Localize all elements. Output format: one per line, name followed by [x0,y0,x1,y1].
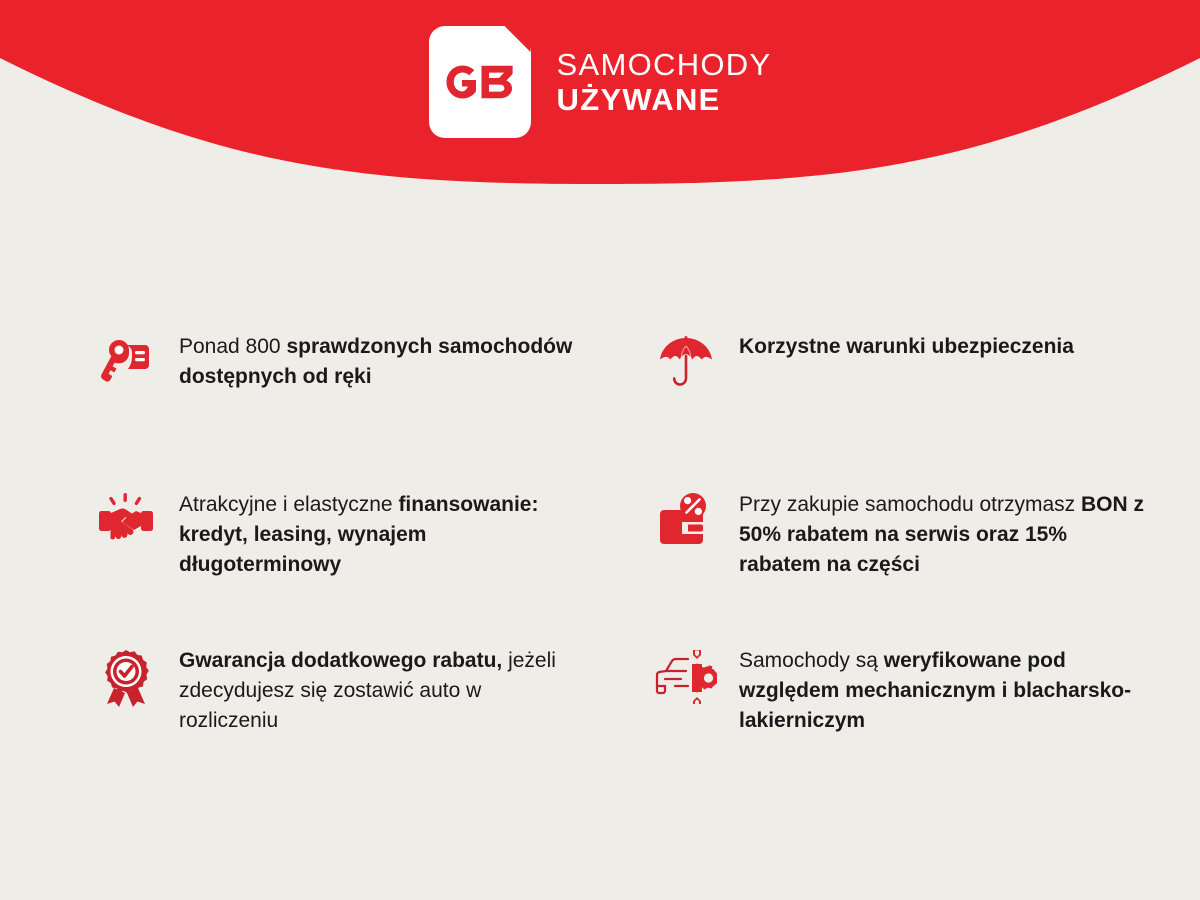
brand-line-uzywane: UŻYWANE [557,84,772,116]
car-key-icon [95,330,157,400]
feature-text: Samochody są weryfikowane pod względem m… [739,644,1149,735]
feature-segment-bold: Gwarancja dodatkowego rabatu, [179,649,508,672]
handshake-icon [95,488,157,558]
feature-item-service-voucher: Przy zakupie samochodu otrzymasz BON z 5… [655,488,1200,588]
award-badge-icon [95,644,157,714]
brand-lockup: SAMOCHODY UŻYWANE [0,26,1200,138]
features-column-left: Ponad 800 sprawdzonych samochodów dostęp… [95,330,655,744]
feature-item-cars-available: Ponad 800 sprawdzonych samochodów dostęp… [95,330,655,430]
logo-corner-notch [505,26,531,52]
brand-line-samochody: SAMOCHODY [557,49,772,81]
features-column-right: Korzystne warunki ubezpieczenia [655,330,1200,744]
feature-item-insurance: Korzystne warunki ubezpieczenia [655,330,1200,430]
feature-segment-bold: Korzystne warunki ubezpieczenia [739,335,1074,358]
feature-text: Przy zakupie samochodu otrzymasz BON z 5… [739,488,1149,579]
car-service-icon [655,644,717,714]
feature-item-financing: Atrakcyjne i elastyczne finansowanie: kr… [95,488,655,588]
feature-text: Atrakcyjne i elastyczne finansowanie: kr… [179,488,579,579]
gb-logo-icon [445,65,515,99]
features-grid: Ponad 800 sprawdzonych samochodów dostęp… [0,330,1200,744]
feature-text: Korzystne warunki ubezpieczenia [739,330,1074,362]
umbrella-icon [655,330,717,400]
feature-item-vehicle-inspection: Samochody są weryfikowane pod względem m… [655,644,1200,744]
feature-segment-regular: Przy zakupie samochodu otrzymasz [739,493,1081,516]
header-banner: SAMOCHODY UŻYWANE [0,0,1200,200]
feature-segment-regular: Samochody są [739,649,884,672]
feature-text: Gwarancja dodatkowego rabatu, jeżeli zde… [179,644,579,735]
feature-text: Ponad 800 sprawdzonych samochodów dostęp… [179,330,579,392]
wallet-percent-icon [655,488,717,558]
feature-segment-regular: Atrakcyjne i elastyczne [179,493,398,516]
feature-item-trade-in-discount: Gwarancja dodatkowego rabatu, jeżeli zde… [95,644,655,744]
brand-wordmark: SAMOCHODY UŻYWANE [557,49,772,115]
gb-logo-card [429,26,531,138]
feature-segment-regular: Ponad 800 [179,335,286,358]
